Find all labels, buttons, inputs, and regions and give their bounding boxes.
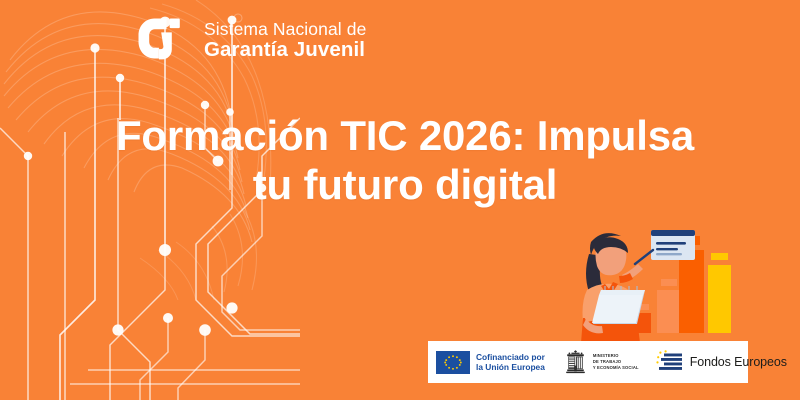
ministry-caption: MINISTERIO DE TRABAJO Y ECONOMÍA SOCIAL	[593, 353, 639, 370]
eu-caption-line-2: la Unión Europea	[476, 362, 545, 372]
eu-cofunding-caption: Cofinanciado por la Unión Europea	[476, 352, 545, 373]
ministry-logo: MINISTERIO DE TRABAJO Y ECONOMÍA SOCIAL	[554, 341, 647, 383]
brand-lockup: Sistema Nacional de Garantía Juvenil	[128, 8, 366, 70]
eu-cofunding-logo: Cofinanciado por la Unión Europea	[436, 341, 554, 383]
page-title: Formación TIC 2026: Impulsa tu futuro di…	[95, 112, 715, 209]
brand-text: Sistema Nacional de Garantía Juvenil	[204, 16, 366, 63]
brand-line-1: Sistema Nacional de	[204, 20, 366, 40]
brand-line-2: Garantía Juvenil	[204, 39, 366, 62]
european-union-flag-icon	[436, 351, 470, 374]
funding-logos-bar: Cofinanciado por la Unión Europea	[428, 341, 748, 383]
fondos-europeos-caption: Fondos Europeos	[690, 355, 787, 369]
promotional-banner: Sistema Nacional de Garantía Juvenil For…	[0, 0, 800, 400]
fondos-europeos-logo: Fondos Europeos	[647, 341, 787, 383]
gj-monogram-logo	[128, 8, 190, 70]
spanish-government-coat-of-arms-icon	[562, 349, 589, 376]
woman-with-notebook-and-bar-chart-illustration	[575, 218, 755, 343]
fondos-europeos-bars-icon	[656, 350, 684, 374]
ministry-caption-line-3: Y ECONOMÍA SOCIAL	[593, 365, 639, 371]
eu-caption-line-1: Cofinanciado por	[476, 352, 545, 362]
